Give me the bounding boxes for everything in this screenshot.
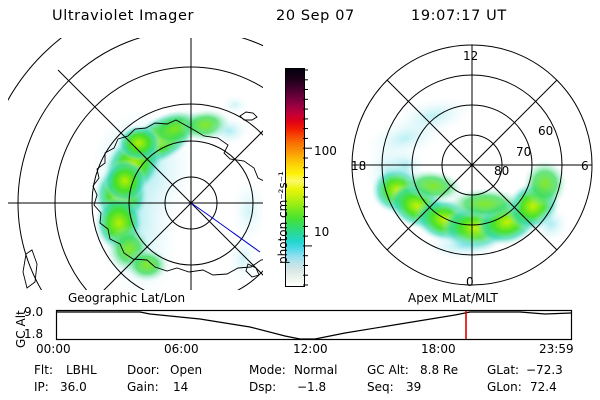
uvi-screenshot: Ultraviolet Imager 20 Sep 07 19:07:17 UT [0, 0, 600, 400]
orbit-x-tick-3: 18:00 [421, 342, 456, 356]
status-gain-key: Gain: [127, 380, 159, 394]
orbit-x-tick-0: 00:00 [36, 342, 71, 356]
status-mode-value: Normal [294, 363, 337, 377]
mlat-label-60: 60 [538, 124, 553, 138]
status-door-key: Door: [127, 363, 160, 377]
status-ip-key: IP: [34, 380, 49, 394]
status-glon-key: GLon: [487, 380, 522, 394]
colorbar-axis-label: photon cm⁻²s⁻¹ [276, 171, 290, 264]
mlt-label-6: 6 [581, 159, 589, 173]
mlt-label-12: 12 [463, 49, 478, 63]
status-block: Flt: LBHL Door: Open Mode: Normal GC Alt… [0, 363, 600, 399]
mlt-spokes [352, 45, 592, 285]
mlat-label-80: 80 [494, 164, 509, 178]
mlt-label-0: 0 [466, 275, 474, 289]
status-dsp-key: Dsp: [249, 380, 276, 394]
status-ip-value: 36.0 [60, 380, 87, 394]
status-gcalt-key: GC Alt: [367, 363, 409, 377]
geographic-polar-plot[interactable] [8, 38, 263, 290]
status-glat-key: GLat: [487, 363, 519, 377]
status-glat-value: −72.3 [526, 363, 563, 377]
observation-time: 19:07:17 UT [411, 8, 507, 24]
status-door-value: Open [170, 363, 202, 377]
colorbar-tick-100: 100 [314, 144, 337, 158]
status-dsp-value: −1.8 [297, 380, 326, 394]
observation-date: 20 Sep 07 [276, 8, 355, 24]
mlt-label-18: 18 [351, 159, 366, 173]
orbit-x-tick-1: 06:00 [164, 342, 199, 356]
colorbar-ticks [303, 68, 313, 287]
orbit-trace [0, 300, 600, 344]
aurora-emission-right [359, 90, 569, 260]
status-flt-key: Flt: [34, 363, 53, 377]
mlat-label-70: 70 [516, 145, 531, 159]
status-seq-key: Seq: [367, 380, 394, 394]
status-gcalt-value: 8.8 Re [420, 363, 458, 377]
colorbar[interactable]: 100 10 photon cm⁻²s⁻¹ [262, 58, 350, 294]
status-gain-value: 14 [173, 380, 188, 394]
orbit-x-tick-2: 12:00 [293, 342, 328, 356]
status-flt-value: LBHL [66, 363, 97, 377]
status-glon-value: 72.4 [530, 380, 557, 394]
orbit-x-tick-4: 23:59 [539, 342, 574, 356]
status-seq-value: 39 [406, 380, 421, 394]
instrument-title: Ultraviolet Imager [52, 8, 194, 24]
colorbar-tick-10: 10 [314, 225, 329, 239]
orbit-altitude-plot[interactable]: GC Alt 9.0 1.8 00:00 06:00 12:00 18:00 2… [0, 300, 600, 355]
status-mode-key: Mode: [249, 363, 286, 377]
apex-mlt-polar-plot[interactable]: 12 18 6 0 60 70 80 [345, 38, 595, 290]
